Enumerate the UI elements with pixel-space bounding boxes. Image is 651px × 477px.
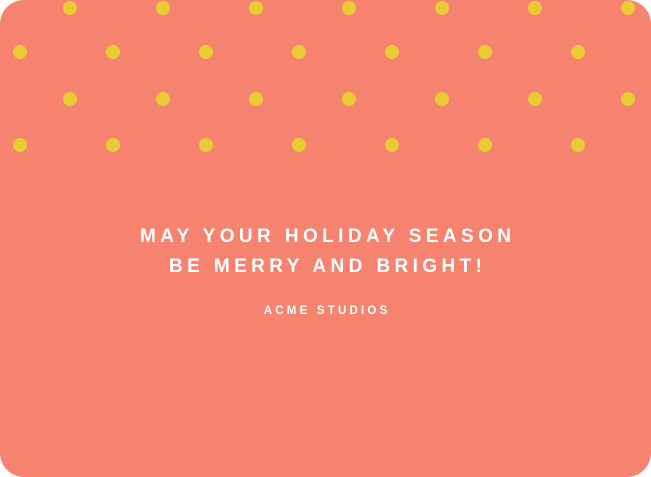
polka-dot (435, 92, 449, 106)
holiday-greeting-card: MAY YOUR HOLIDAY SEASON BE MERRY AND BRI… (0, 0, 651, 477)
polka-dot (199, 45, 213, 59)
polka-dot (621, 1, 635, 15)
polka-dot (63, 1, 77, 15)
polka-dot-pattern (0, 0, 651, 200)
polka-dot (292, 45, 306, 59)
polka-dot (621, 92, 635, 106)
polka-dot (13, 45, 27, 59)
polka-dot (199, 138, 213, 152)
polka-dot (478, 138, 492, 152)
polka-dot (156, 92, 170, 106)
polka-dot (528, 92, 542, 106)
polka-dot (342, 1, 356, 15)
greeting-message-block: MAY YOUR HOLIDAY SEASON BE MERRY AND BRI… (0, 222, 651, 319)
polka-dot (156, 1, 170, 15)
polka-dot (292, 138, 306, 152)
polka-dot (385, 45, 399, 59)
polka-dot (435, 1, 449, 15)
headline-line-2: BE MERRY AND BRIGHT! (0, 252, 651, 282)
polka-dot (106, 138, 120, 152)
polka-dot (106, 45, 120, 59)
signature-line: ACME STUDIOS (0, 303, 651, 319)
polka-dot (342, 92, 356, 106)
polka-dot (478, 45, 492, 59)
polka-dot (571, 138, 585, 152)
polka-dot (249, 92, 263, 106)
polka-dot (385, 138, 399, 152)
polka-dot (571, 45, 585, 59)
polka-dot (63, 92, 77, 106)
polka-dot (13, 138, 27, 152)
polka-dot (249, 1, 263, 15)
headline-line-1: MAY YOUR HOLIDAY SEASON (0, 222, 651, 252)
polka-dot (528, 1, 542, 15)
